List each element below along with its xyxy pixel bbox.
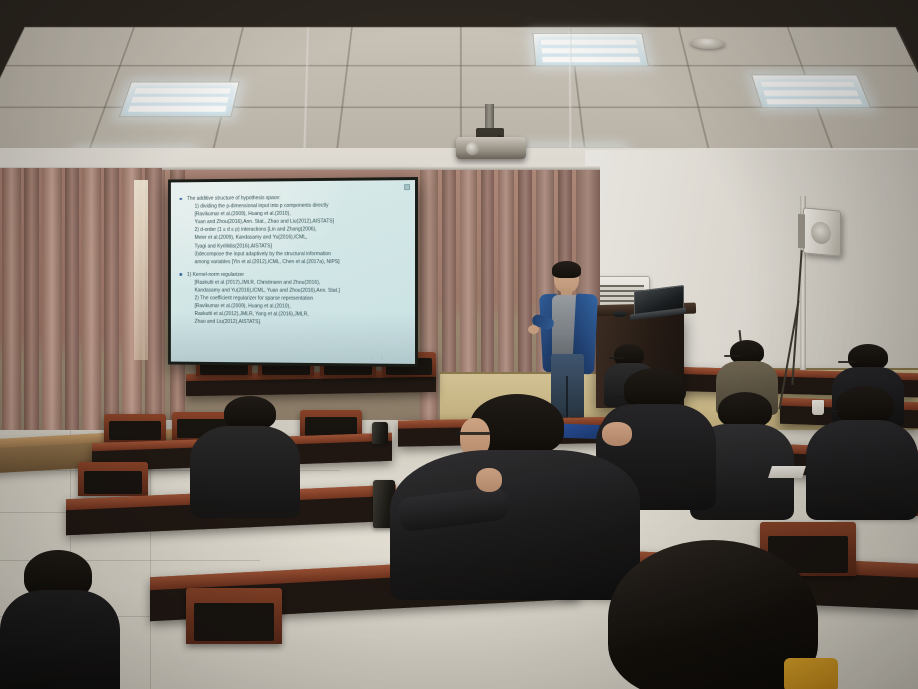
presentation-slide: The additive structure of hypothesis spa… xyxy=(171,180,415,364)
bullet-icon xyxy=(179,198,181,201)
projection-screen: The additive structure of hypothesis spa… xyxy=(168,177,418,367)
slide-bullet: The additive structure of hypothesis spa… xyxy=(179,193,409,266)
wall-speaker xyxy=(803,207,841,256)
list-item xyxy=(598,534,828,689)
seat-back xyxy=(186,588,282,644)
thermos-bottle xyxy=(372,422,388,444)
presenter-hair xyxy=(552,261,581,278)
slide-corner-marker xyxy=(404,184,410,190)
ceiling-light xyxy=(533,33,649,66)
computer-mouse xyxy=(613,311,627,317)
slide-bullet-head: 1) Kernel-norm regularizer xyxy=(187,272,244,278)
slide-line: among variables [Yin et al.(2012),ICML, … xyxy=(187,258,409,266)
paper-sheet xyxy=(768,466,806,478)
list-item xyxy=(190,396,300,512)
ceiling-projector xyxy=(452,104,530,160)
list-item xyxy=(0,470,120,689)
ceiling-light xyxy=(119,82,240,117)
slide-bullet-head: The additive structure of hypothesis spa… xyxy=(187,195,280,202)
bullet-icon xyxy=(179,273,181,276)
paper-cup xyxy=(812,400,824,415)
lecture-hall-photo: The additive structure of hypothesis spa… xyxy=(0,0,918,689)
laptop xyxy=(630,288,684,320)
ceiling-light xyxy=(751,75,871,108)
presenter-hand xyxy=(528,325,539,334)
seat-back xyxy=(104,414,166,442)
